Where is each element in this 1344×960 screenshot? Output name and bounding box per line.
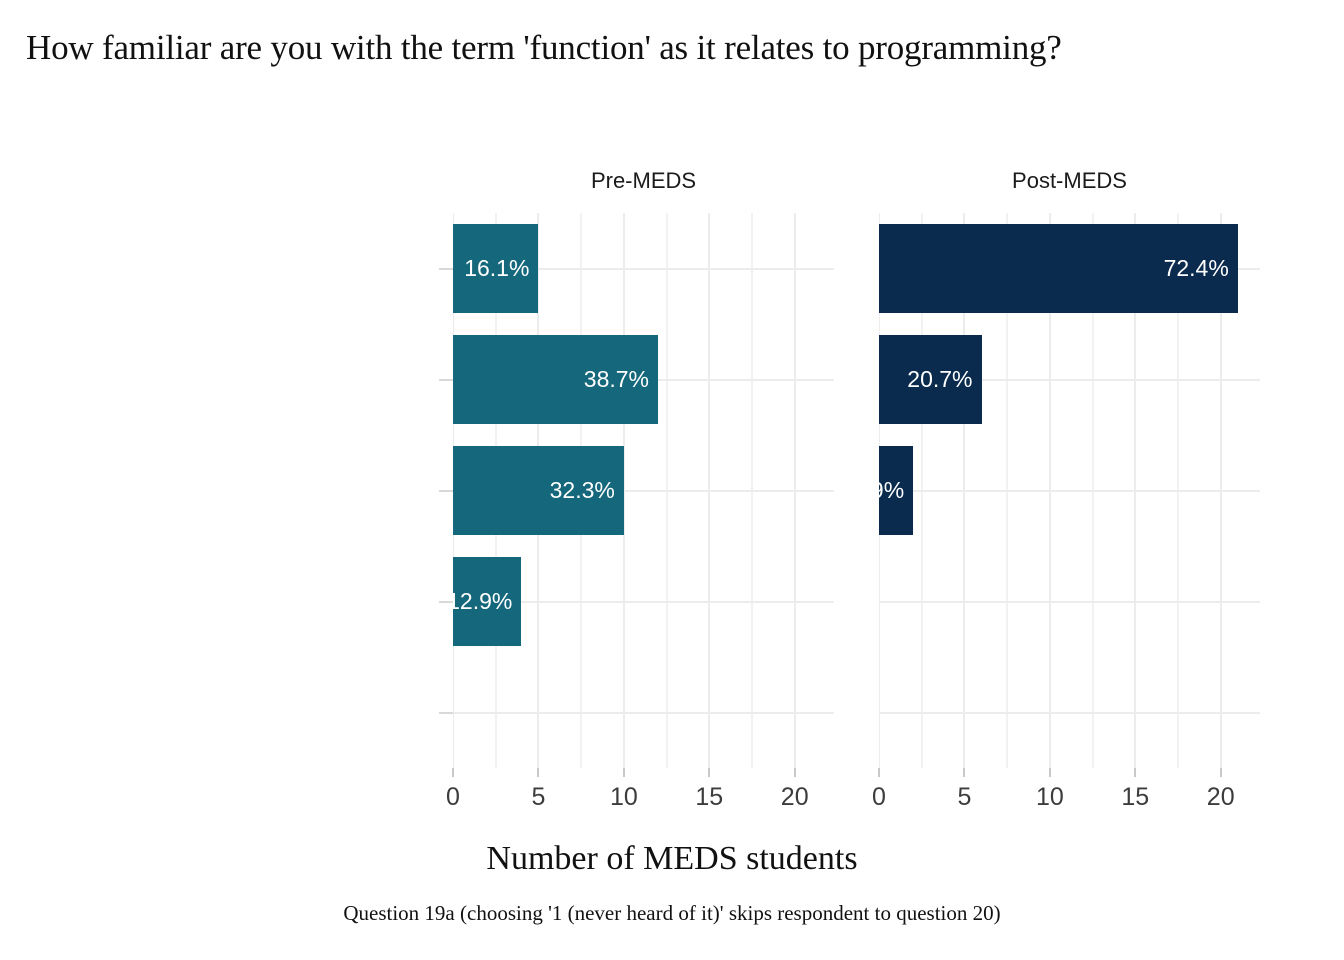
bar[interactable]: 12.9% bbox=[453, 557, 521, 646]
x-tick-mark bbox=[623, 768, 625, 777]
bar-row: 38.7% bbox=[453, 335, 834, 424]
bar-row: 32.3% bbox=[453, 446, 834, 535]
bar-row: 12.9% bbox=[453, 557, 834, 646]
x-tick-label: 0 bbox=[872, 783, 886, 812]
facet-title-pre-meds: Pre-MEDS bbox=[453, 168, 834, 194]
x-tick-mark bbox=[1049, 768, 1051, 777]
bar-value-label: 6.9% bbox=[879, 477, 913, 504]
y-tick-mark bbox=[439, 712, 453, 714]
bar-row: 20.7% bbox=[879, 335, 1260, 424]
bar-row: 72.4% bbox=[879, 224, 1260, 313]
chart-root: How familiar are you with the term 'func… bbox=[0, 0, 1344, 960]
bar-row: 6.9% bbox=[879, 446, 1260, 535]
x-tick-mark bbox=[878, 768, 880, 777]
bar[interactable]: 38.7% bbox=[453, 335, 658, 424]
x-tick-label: 10 bbox=[1036, 783, 1064, 812]
x-tick-label: 15 bbox=[1121, 783, 1149, 812]
x-tick-mark bbox=[1220, 768, 1222, 777]
bar[interactable]: 20.7% bbox=[879, 335, 982, 424]
y-tick-mark bbox=[439, 601, 453, 603]
facet-title-post-meds: Post-MEDS bbox=[879, 168, 1260, 194]
bar-value-label: 16.1% bbox=[464, 255, 538, 282]
facet-panel-post-meds: Post-MEDS 72.4%20.7%6.9%0.0%0.0% 0510152… bbox=[879, 213, 1260, 768]
x-tick-label: 5 bbox=[531, 783, 545, 812]
x-tick-mark bbox=[708, 768, 710, 777]
y-tick-mark bbox=[439, 379, 453, 381]
x-tick-mark bbox=[1134, 768, 1136, 777]
facet-panel-pre-meds: Pre-MEDS 16.1%38.7%32.3%12.9%0.0% 051015… bbox=[453, 213, 834, 768]
bar[interactable]: 16.1% bbox=[453, 224, 538, 313]
bar-value-label: 32.3% bbox=[550, 477, 624, 504]
bar-row: 0.0% bbox=[879, 557, 1260, 646]
x-tick-mark bbox=[963, 768, 965, 777]
x-tick-mark bbox=[794, 768, 796, 777]
bar-value-label: 20.7% bbox=[907, 366, 981, 393]
bar-row: 0.0% bbox=[453, 668, 834, 757]
bar[interactable]: 72.4% bbox=[879, 224, 1238, 313]
x-tick-label: 20 bbox=[1207, 783, 1235, 812]
x-tick-label: 20 bbox=[781, 783, 809, 812]
x-tick-mark bbox=[452, 768, 454, 777]
x-axis-title: Number of MEDS students bbox=[0, 840, 1344, 878]
x-tick-label: 15 bbox=[695, 783, 723, 812]
bar-value-label: 38.7% bbox=[584, 366, 658, 393]
plot-area-pre-meds: 16.1%38.7%32.3%12.9%0.0% bbox=[453, 213, 834, 768]
chart-title: How familiar are you with the term 'func… bbox=[26, 26, 1266, 70]
y-tick-mark bbox=[439, 490, 453, 492]
x-tick-label: 10 bbox=[610, 783, 638, 812]
bar-value-label: 12.9% bbox=[453, 588, 521, 615]
bar-value-label: 72.4% bbox=[1164, 255, 1238, 282]
x-tick-label: 0 bbox=[446, 783, 460, 812]
plot-area-post-meds: 72.4%20.7%6.9%0.0%0.0% bbox=[879, 213, 1260, 768]
x-tick-mark bbox=[537, 768, 539, 777]
bar-row: 0.0% bbox=[879, 668, 1260, 757]
bar-row: 16.1% bbox=[453, 224, 834, 313]
chart-caption: Question 19a (choosing '1 (never heard o… bbox=[0, 901, 1344, 926]
x-tick-label: 5 bbox=[957, 783, 971, 812]
bar[interactable]: 32.3% bbox=[453, 446, 624, 535]
y-tick-mark bbox=[439, 268, 453, 270]
bar[interactable]: 6.9% bbox=[879, 446, 913, 535]
